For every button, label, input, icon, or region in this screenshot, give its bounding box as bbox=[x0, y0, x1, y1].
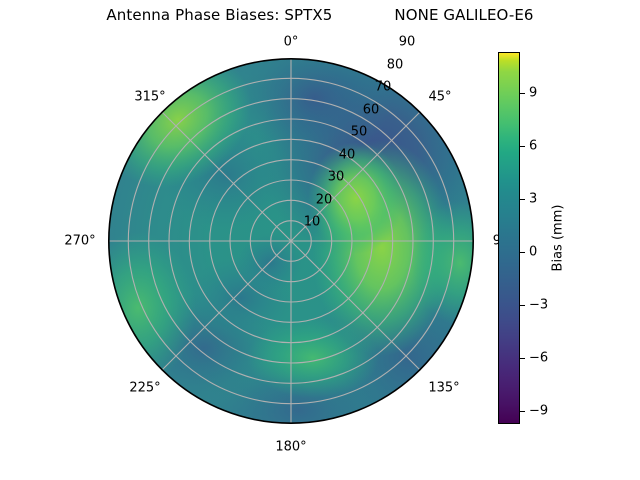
colorbar-ticklabel-neg3: −3 bbox=[529, 298, 548, 313]
angular-label-270: 270° bbox=[64, 234, 95, 249]
radial-label-70: 70 bbox=[375, 80, 392, 95]
colorbar-tick-neg3 bbox=[520, 305, 525, 306]
colorbar-ticklabel-6: 6 bbox=[529, 139, 537, 154]
angular-label-135: 135° bbox=[428, 381, 459, 396]
colorbar-tick-neg9 bbox=[520, 411, 525, 412]
page-title: Antenna Phase Biases: SPTX5 NONE GALILEO… bbox=[0, 6, 640, 24]
polar-contour-svg bbox=[108, 58, 474, 424]
angular-label-45: 45° bbox=[428, 90, 451, 105]
radial-label-60: 60 bbox=[363, 103, 380, 118]
radial-label-10: 10 bbox=[304, 215, 321, 230]
radial-label-20: 20 bbox=[316, 193, 333, 208]
radial-label-90: 90 bbox=[399, 35, 416, 50]
polar-plot[interactable]: 0° 45° 90 135° 180° 225° 270° 315° 10 20… bbox=[108, 58, 474, 424]
polar-grid-spokes bbox=[108, 58, 474, 424]
colorbar-tick-9 bbox=[520, 93, 525, 94]
colorbar-tick-6 bbox=[520, 146, 525, 147]
colorbar-ticklabel-0: 0 bbox=[529, 245, 537, 260]
title-signal: NONE GALILEO-E6 bbox=[394, 6, 533, 24]
viridis-gradient bbox=[499, 53, 519, 423]
radial-label-80: 80 bbox=[387, 58, 404, 73]
radial-label-40: 40 bbox=[339, 148, 356, 163]
radial-label-50: 50 bbox=[351, 125, 368, 140]
title-station: Antenna Phase Biases: SPTX5 bbox=[106, 6, 332, 24]
colorbar[interactable]: 9 6 3 0 −3 −6 −9 Bias (mm) bbox=[498, 52, 618, 424]
colorbar-label: Bias (mm) bbox=[551, 205, 566, 272]
angular-label-0: 0° bbox=[284, 35, 299, 50]
colorbar-gradient[interactable] bbox=[498, 52, 520, 424]
colorbar-ticklabel-3: 3 bbox=[529, 192, 537, 207]
angular-label-225: 225° bbox=[129, 381, 160, 396]
colorbar-ticklabel-neg6: −6 bbox=[529, 351, 548, 366]
angular-label-315: 315° bbox=[134, 90, 165, 105]
colorbar-tick-3 bbox=[520, 199, 525, 200]
colorbar-tick-0 bbox=[520, 252, 525, 253]
angular-label-180: 180° bbox=[275, 440, 306, 455]
colorbar-ticklabel-9: 9 bbox=[529, 86, 537, 101]
radial-label-30: 30 bbox=[328, 170, 345, 185]
colorbar-ticklabel-neg9: −9 bbox=[529, 404, 548, 419]
matplotlib-figure: Antenna Phase Biases: SPTX5 NONE GALILEO… bbox=[0, 0, 640, 480]
colorbar-tick-neg6 bbox=[520, 358, 525, 359]
